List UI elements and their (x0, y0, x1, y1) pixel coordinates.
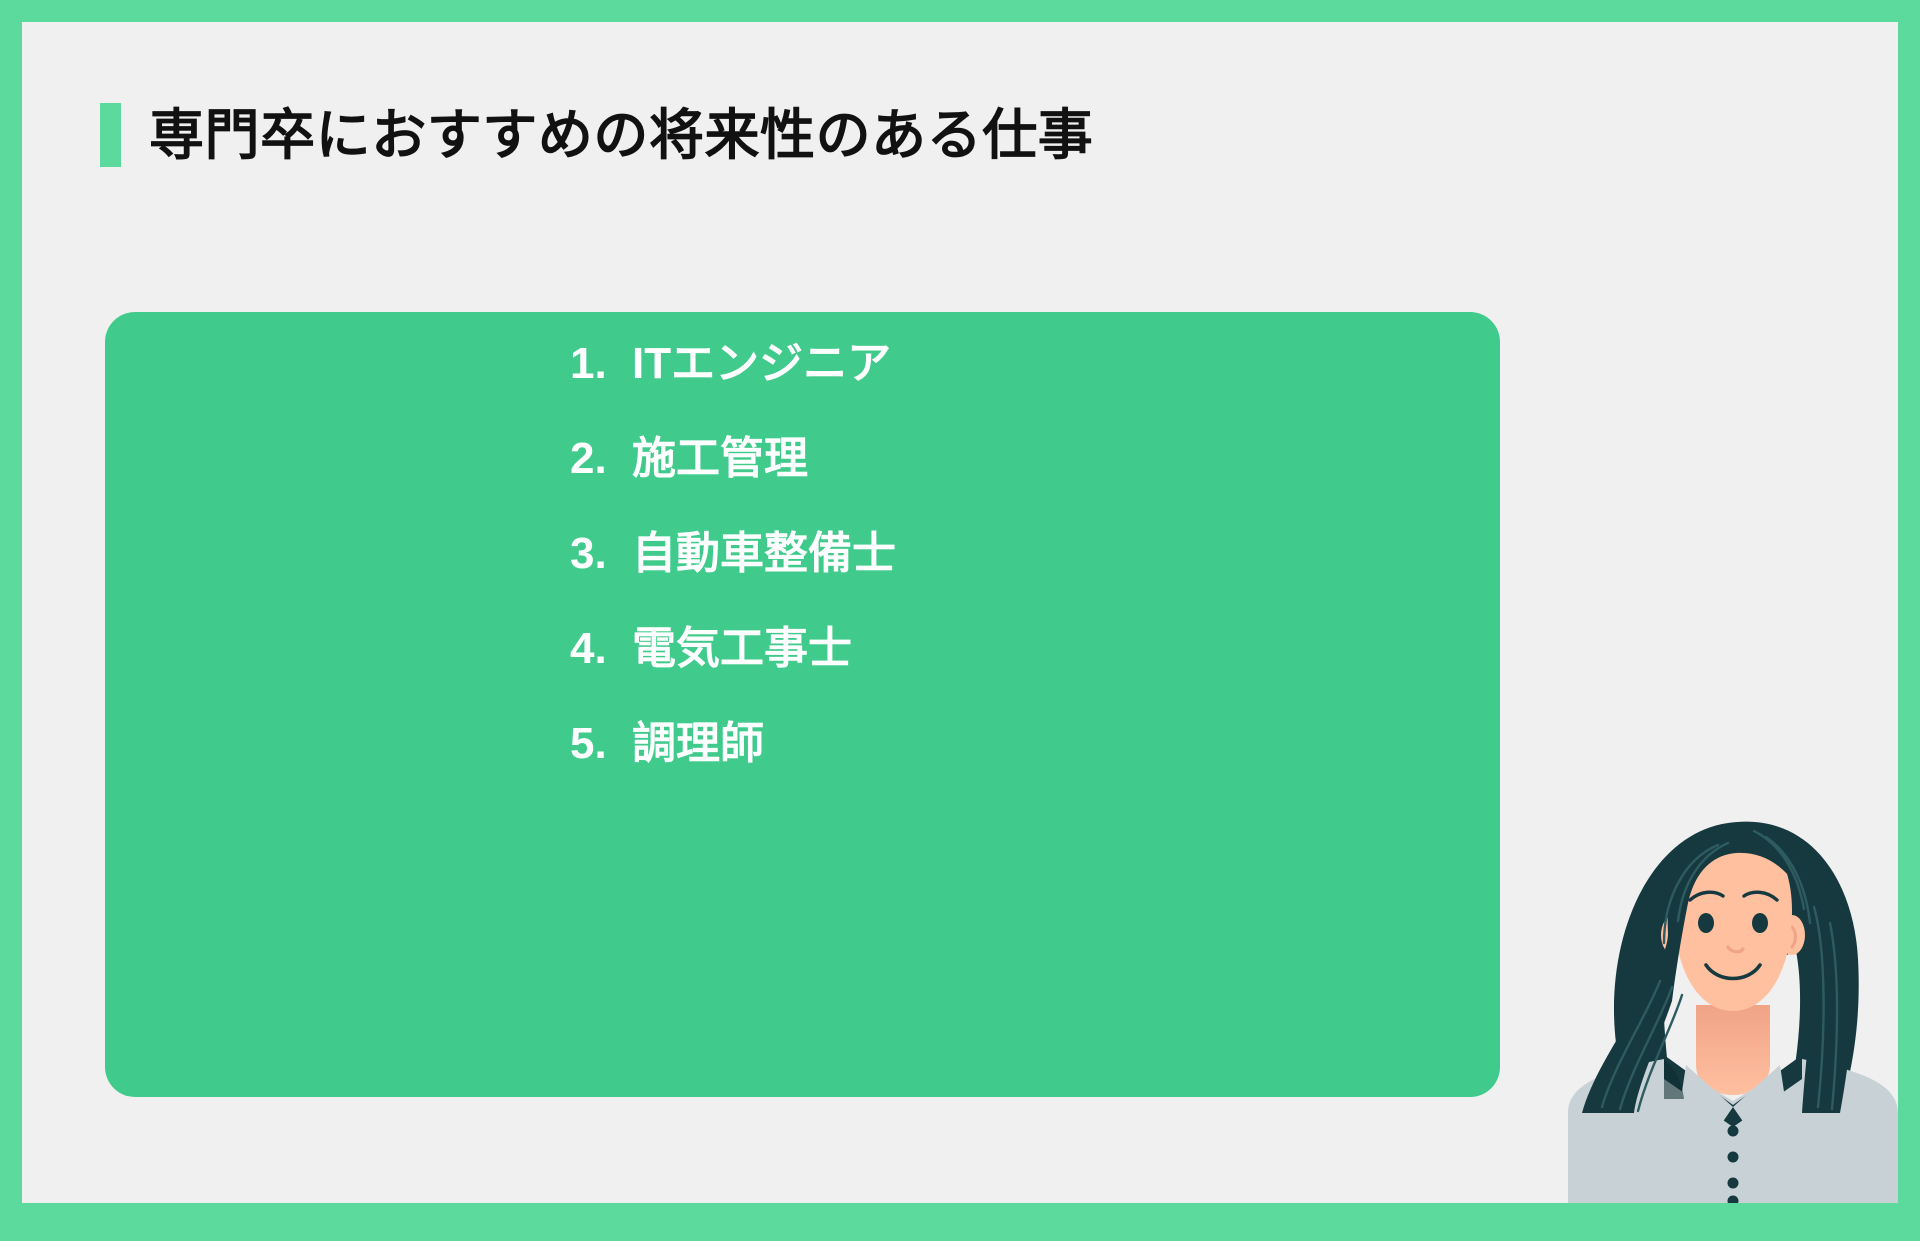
page-title-row: 専門卒におすすめの将来性のある仕事 (100, 103, 1093, 167)
frame-border-right (1898, 0, 1920, 1241)
woman-avatar-icon (1568, 783, 1898, 1203)
title-accent-bar (100, 103, 121, 167)
frame-border-top (0, 0, 1920, 22)
job-list: 1. ITエンジニア 2. 施工管理 3. 自動車整備士 4. 電気工事士 5.… (570, 342, 896, 817)
list-item: 4. 電気工事士 (570, 627, 896, 671)
list-item-number: 2. (570, 437, 632, 481)
list-item-label: 調理師 (632, 722, 764, 766)
list-item-label: ITエンジニア (632, 342, 891, 386)
list-item-number: 5. (570, 722, 632, 766)
shirt-button (1728, 1178, 1739, 1189)
list-item-number: 1. (570, 342, 632, 386)
list-item: 3. 自動車整備士 (570, 532, 896, 576)
frame-border-bottom (0, 1203, 1920, 1241)
neck (1696, 1005, 1770, 1095)
eye-right (1752, 913, 1768, 933)
frame-border-left (0, 0, 22, 1241)
list-item-label: 電気工事士 (632, 627, 852, 671)
job-list-panel: 1. ITエンジニア 2. 施工管理 3. 自動車整備士 4. 電気工事士 5.… (105, 312, 1500, 1097)
list-item-label: 施工管理 (632, 437, 808, 481)
smiling-woman-illustration (1568, 783, 1898, 1203)
list-item-number: 3. (570, 532, 632, 576)
list-item-label: 自動車整備士 (632, 532, 896, 576)
eye-left (1698, 913, 1714, 933)
page-title: 専門卒におすすめの将来性のある仕事 (149, 108, 1093, 163)
shirt-button (1728, 1126, 1739, 1137)
list-item: 5. 調理師 (570, 722, 896, 766)
list-item: 1. ITエンジニア (570, 342, 896, 386)
slide-root: 専門卒におすすめの将来性のある仕事 1. ITエンジニア 2. 施工管理 3. … (0, 0, 1920, 1241)
shirt-button (1728, 1152, 1739, 1163)
list-item-number: 4. (570, 627, 632, 671)
list-item: 2. 施工管理 (570, 437, 896, 481)
